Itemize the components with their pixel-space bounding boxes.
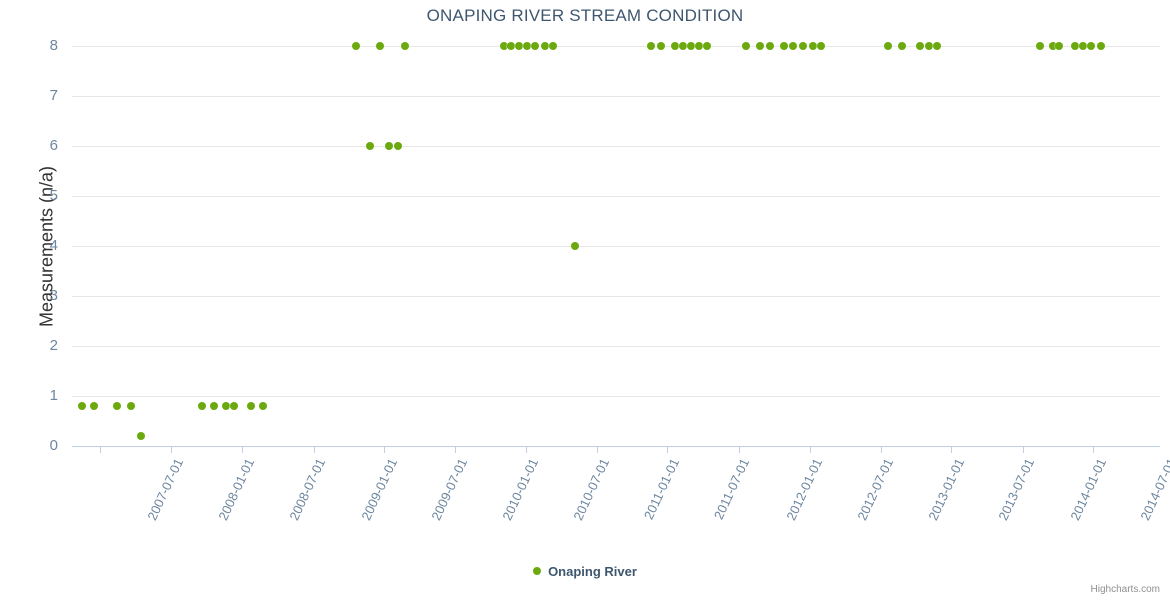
- data-point[interactable]: [222, 402, 230, 410]
- data-point[interactable]: [780, 42, 788, 50]
- x-axis-tick: [881, 447, 882, 453]
- data-point[interactable]: [766, 42, 774, 50]
- y-axis-tick-label: 5: [12, 188, 58, 203]
- data-point[interactable]: [198, 402, 206, 410]
- data-point[interactable]: [809, 42, 817, 50]
- data-point[interactable]: [756, 42, 764, 50]
- x-axis-tick-label: 2008-07-01: [287, 456, 329, 523]
- x-axis-tick: [384, 447, 385, 453]
- credits-label[interactable]: Highcharts.com: [1091, 584, 1160, 595]
- data-point[interactable]: [127, 402, 135, 410]
- data-point[interactable]: [571, 242, 579, 250]
- x-axis-tick: [455, 447, 456, 453]
- data-point[interactable]: [898, 42, 906, 50]
- x-axis-tick: [667, 447, 668, 453]
- data-point[interactable]: [531, 42, 539, 50]
- data-point[interactable]: [884, 42, 892, 50]
- x-axis-tick: [951, 447, 952, 453]
- x-axis-tick: [1093, 447, 1094, 453]
- x-axis-tick-label: 2010-01-01: [500, 456, 542, 523]
- data-point[interactable]: [1036, 42, 1044, 50]
- data-point[interactable]: [1087, 42, 1095, 50]
- y-axis-tick-label: 4: [12, 238, 58, 253]
- data-point[interactable]: [817, 42, 825, 50]
- data-point[interactable]: [657, 42, 665, 50]
- plot-area: [72, 46, 1160, 446]
- data-point[interactable]: [394, 142, 402, 150]
- data-point[interactable]: [366, 142, 374, 150]
- data-point[interactable]: [259, 402, 267, 410]
- data-point[interactable]: [671, 42, 679, 50]
- legend-item-label[interactable]: Onaping River: [548, 564, 637, 579]
- data-point[interactable]: [78, 402, 86, 410]
- y-axis-tick-label: 0: [12, 438, 58, 453]
- data-point[interactable]: [113, 402, 121, 410]
- data-point[interactable]: [916, 42, 924, 50]
- data-point[interactable]: [1079, 42, 1087, 50]
- chart-title: ONAPING RIVER STREAM CONDITION: [0, 6, 1170, 26]
- x-axis-tick: [171, 447, 172, 453]
- x-axis-tick-label: 2014-01-01: [1067, 456, 1109, 523]
- data-point[interactable]: [385, 142, 393, 150]
- data-point[interactable]: [1097, 42, 1105, 50]
- x-axis-tick: [1023, 447, 1024, 453]
- x-axis-line: [72, 446, 1160, 447]
- data-point[interactable]: [541, 42, 549, 50]
- chart-legend[interactable]: Onaping River: [0, 563, 1170, 579]
- data-point[interactable]: [247, 402, 255, 410]
- x-axis-tick-label: 2007-07-01: [144, 456, 186, 523]
- data-point[interactable]: [230, 402, 238, 410]
- x-axis-tick: [526, 447, 527, 453]
- data-point[interactable]: [789, 42, 797, 50]
- x-axis-tick-label: 2008-01-01: [216, 456, 258, 523]
- legend-marker-icon: [533, 567, 541, 575]
- x-axis-tick-label: 2011-01-01: [641, 456, 682, 522]
- y-axis-tick-label: 6: [12, 138, 58, 153]
- x-axis-tick-label: 2012-07-01: [854, 456, 896, 523]
- x-axis-tick: [100, 447, 101, 453]
- x-axis-tick: [242, 447, 243, 453]
- x-axis-tick-label: 2013-07-01: [996, 456, 1038, 523]
- x-axis-tick-label: 2013-01-01: [925, 456, 967, 523]
- x-axis-tick-label: 2009-01-01: [358, 456, 400, 523]
- y-axis-tick-label: 1: [12, 388, 58, 403]
- data-point[interactable]: [137, 432, 145, 440]
- data-point[interactable]: [695, 42, 703, 50]
- data-point[interactable]: [507, 42, 515, 50]
- data-point[interactable]: [352, 42, 360, 50]
- x-axis-tick-label: 2012-01-01: [783, 456, 825, 523]
- data-point[interactable]: [549, 42, 557, 50]
- data-point[interactable]: [401, 42, 409, 50]
- data-point[interactable]: [1071, 42, 1079, 50]
- y-axis-tick-label: 8: [12, 38, 58, 53]
- x-axis-tick-label: 2011-07-01: [711, 456, 752, 522]
- y-axis-tick-label: 3: [12, 288, 58, 303]
- data-point[interactable]: [799, 42, 807, 50]
- x-axis-tick-label: 2014-07-01: [1138, 456, 1170, 523]
- x-axis-tick-label: 2009-07-01: [428, 456, 470, 523]
- x-axis-tick: [739, 447, 740, 453]
- data-point[interactable]: [90, 402, 98, 410]
- x-axis-tick: [597, 447, 598, 453]
- x-axis-tick: [314, 447, 315, 453]
- data-point[interactable]: [210, 402, 218, 410]
- data-point[interactable]: [679, 42, 687, 50]
- data-point[interactable]: [687, 42, 695, 50]
- data-point[interactable]: [376, 42, 384, 50]
- data-point[interactable]: [1055, 42, 1063, 50]
- highcharts-container: ONAPING RIVER STREAM CONDITION Measureme…: [0, 0, 1170, 600]
- y-axis-tick-label: 2: [12, 338, 58, 353]
- x-axis-tick-label: 2010-07-01: [570, 456, 612, 523]
- data-point[interactable]: [703, 42, 711, 50]
- data-point[interactable]: [742, 42, 750, 50]
- data-point[interactable]: [933, 42, 941, 50]
- data-point[interactable]: [647, 42, 655, 50]
- y-axis-tick-label: 7: [12, 88, 58, 103]
- x-axis-tick: [810, 447, 811, 453]
